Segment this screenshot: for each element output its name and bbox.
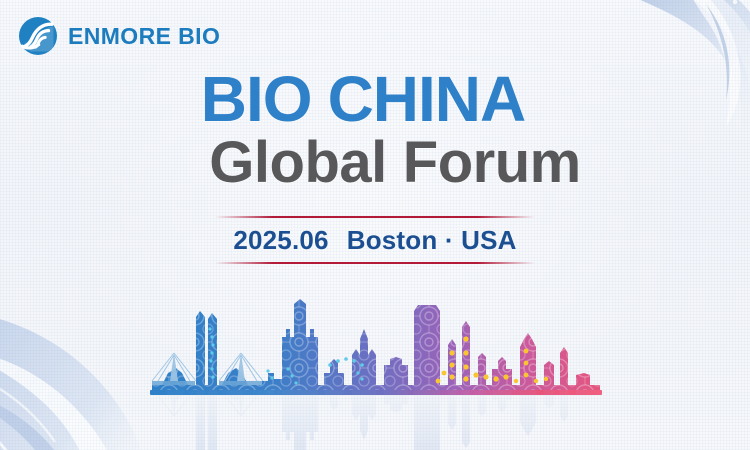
- headline-block: BIOCHINA GlobalForum: [0, 68, 750, 192]
- event-date: 2025.06: [233, 225, 328, 256]
- event-location: Boston · USA: [347, 225, 517, 256]
- wave-circle-logo-icon: [18, 16, 58, 56]
- title-word-china: CHINA: [328, 63, 526, 135]
- rule-bottom: [215, 262, 535, 264]
- subtitle-word-global: Global: [209, 130, 386, 195]
- skyline-artwork: [0, 260, 750, 450]
- event-details: 2025.06 Boston · USA: [0, 216, 750, 264]
- brand-logo[interactable]: ENMORE BIO: [18, 16, 220, 56]
- brand-name: ENMORE BIO: [68, 23, 220, 50]
- event-details-inner: 2025.06 Boston · USA: [233, 218, 516, 262]
- title-word-bio: BIO: [201, 63, 312, 135]
- page-title: BIOCHINA: [0, 68, 750, 131]
- page-subtitle: GlobalForum: [0, 133, 750, 192]
- subtitle-word-forum: Forum: [403, 130, 581, 195]
- poster-canvas: ENMORE BIO BIOCHINA GlobalForum 2025.06 …: [0, 0, 750, 450]
- skyline-reflection: [0, 377, 750, 450]
- city-skyline-silhouette: [0, 277, 750, 392]
